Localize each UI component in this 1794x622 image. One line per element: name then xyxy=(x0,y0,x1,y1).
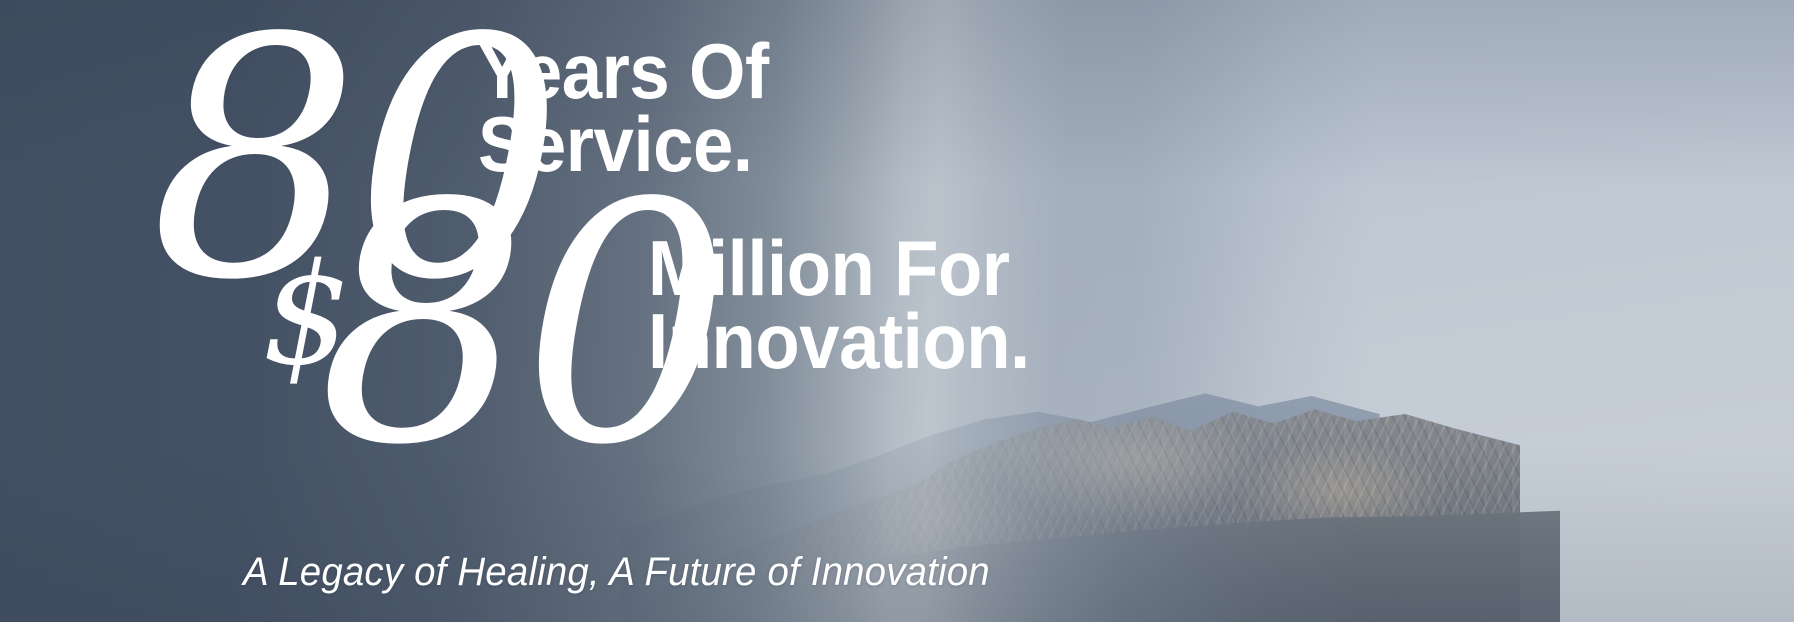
million-text-block: Million For Innovation. xyxy=(648,232,1030,377)
million-line-1: Million For xyxy=(648,232,1030,305)
banner-tagline: A Legacy of Healing, A Future of Innovat… xyxy=(243,552,990,592)
anniversary-hero-banner: 80 Years Of Service. $ 80 Million For In… xyxy=(0,0,1794,622)
million-line-2: Innovation. xyxy=(648,305,1030,378)
bell-tower-icon xyxy=(1104,0,1794,622)
headline-copy-block: 80 Years Of Service. $ 80 Million For In… xyxy=(0,0,1100,622)
years-line-1: Years Of xyxy=(478,35,769,108)
